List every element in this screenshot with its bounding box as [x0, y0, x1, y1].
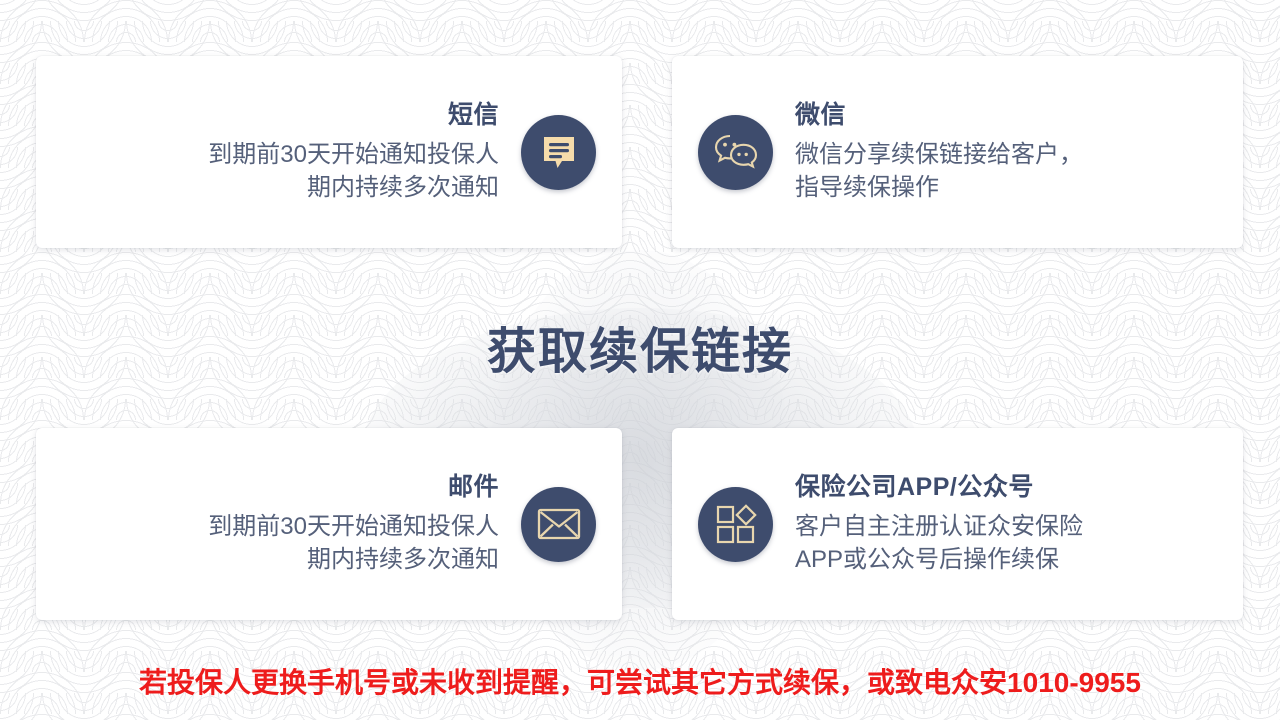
wechat-icon	[698, 115, 773, 190]
card-mail-title: 邮件	[62, 472, 499, 503]
card-sms-title: 短信	[62, 100, 499, 131]
card-mail-description: 到期前30天开始通知投保人 期内持续多次通知	[62, 510, 499, 576]
card-wechat-title: 微信	[795, 100, 1217, 131]
card-wechat[interactable]: 微信 微信分享续保链接给客户， 指导续保操作	[672, 56, 1243, 248]
card-sms-description: 到期前30天开始通知投保人 期内持续多次通知	[62, 138, 499, 204]
app-grid-icon	[698, 487, 773, 562]
card-app[interactable]: 保险公司APP/公众号 客户自主注册认证众安保险 APP或公众号后操作续保	[672, 428, 1243, 620]
card-app-title: 保险公司APP/公众号	[795, 472, 1217, 503]
card-app-description: 客户自主注册认证众安保险 APP或公众号后操作续保	[795, 510, 1217, 576]
card-mail[interactable]: 邮件 到期前30天开始通知投保人 期内持续多次通知	[36, 428, 622, 620]
speech-bubble-icon	[521, 115, 596, 190]
card-sms[interactable]: 短信 到期前30天开始通知投保人 期内持续多次通知	[36, 56, 622, 248]
page-title: 获取续保链接	[0, 312, 1280, 383]
slide-canvas: 短信 到期前30天开始通知投保人 期内持续多次通知	[0, 0, 1280, 720]
card-wechat-description: 微信分享续保链接给客户， 指导续保操作	[795, 138, 1217, 204]
footer-warning-note: 若投保人更换手机号或未收到提醒，可尝试其它方式续保，或致电众安1010-9955	[0, 661, 1280, 701]
envelope-icon	[521, 487, 596, 562]
